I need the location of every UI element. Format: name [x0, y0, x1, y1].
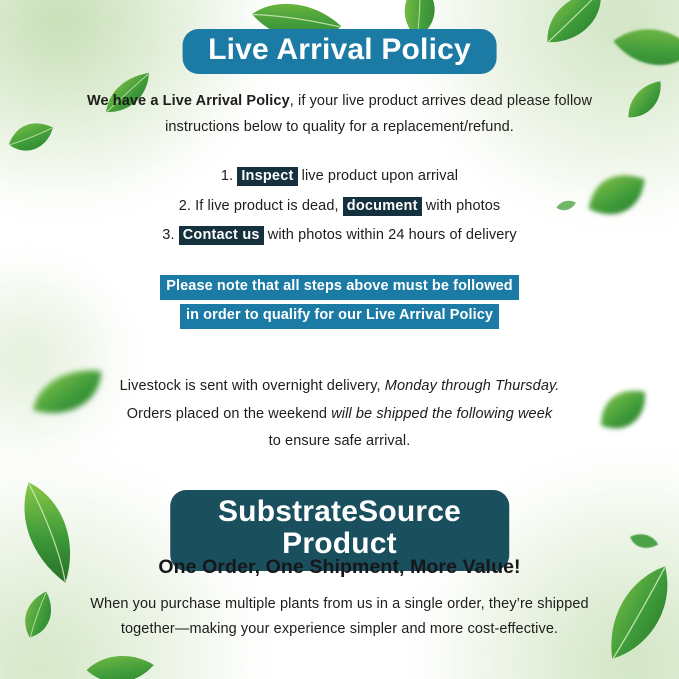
policy-steps-list: 1. Inspect live product upon arrival 2. … [0, 166, 679, 255]
step-highlight-document: document [343, 197, 422, 216]
list-item: 1. Inspect live product upon arrival [0, 166, 679, 187]
policy-note-line-1-wrap: Please note that all steps above must be… [0, 275, 679, 300]
live-arrival-policy-infographic: Live Arrival Policy We have a Live Arriv… [0, 0, 679, 679]
value-paragraph: When you purchase multiple plants from u… [70, 592, 610, 642]
content-column: Live Arrival Policy We have a Live Arriv… [0, 0, 679, 679]
step-highlight-inspect: Inspect [237, 167, 297, 186]
step-text: live product upon arrival [302, 168, 458, 184]
step-text: with photos [426, 198, 500, 214]
intro-paragraph: We have a Live Arrival Policy, if your l… [60, 88, 620, 141]
step-pre-text: If live product is dead, [195, 198, 338, 214]
value-line-2: together—making your experience simpler … [121, 621, 558, 637]
step-text: with photos within 24 hours of delivery [268, 227, 517, 243]
policy-note-line-2: in order to qualify for our Live Arrival… [180, 304, 499, 329]
intro-line-1-rest: , if your live product arrives dead plea… [290, 93, 592, 109]
step-number: 3. [162, 227, 174, 243]
intro-bold-lead: We have a Live Arrival Policy [87, 93, 290, 109]
step-number: 1. [221, 168, 233, 184]
livestock-line-1-plain: Livestock is sent with overnight deliver… [120, 378, 381, 394]
policy-note-line-2-wrap: in order to qualify for our Live Arrival… [0, 304, 679, 329]
livestock-line-1-italic: Monday through Thursday. [385, 378, 560, 394]
intro-line-2: instructions below to quality for a repl… [165, 119, 514, 135]
livestock-line-3: to ensure safe arrival. [269, 433, 411, 449]
step-highlight-contact-us[interactable]: Contact us [179, 226, 264, 245]
policy-note-line-1: Please note that all steps above must be… [160, 275, 519, 300]
livestock-line-2-italic: will be shipped the following week [331, 406, 552, 422]
live-arrival-policy-banner: Live Arrival Policy [182, 29, 497, 74]
step-number: 2. [179, 198, 191, 214]
list-item: 3. Contact us with photos within 24 hour… [0, 225, 679, 246]
livestock-line-2-plain: Orders placed on the weekend [127, 406, 327, 422]
list-item: 2. If live product is dead, document wit… [0, 196, 679, 217]
value-subheadline: One Order, One Shipment, More Value! [40, 556, 640, 579]
livestock-shipping-paragraph: Livestock is sent with overnight deliver… [60, 373, 620, 456]
value-line-1: When you purchase multiple plants from u… [90, 596, 588, 612]
